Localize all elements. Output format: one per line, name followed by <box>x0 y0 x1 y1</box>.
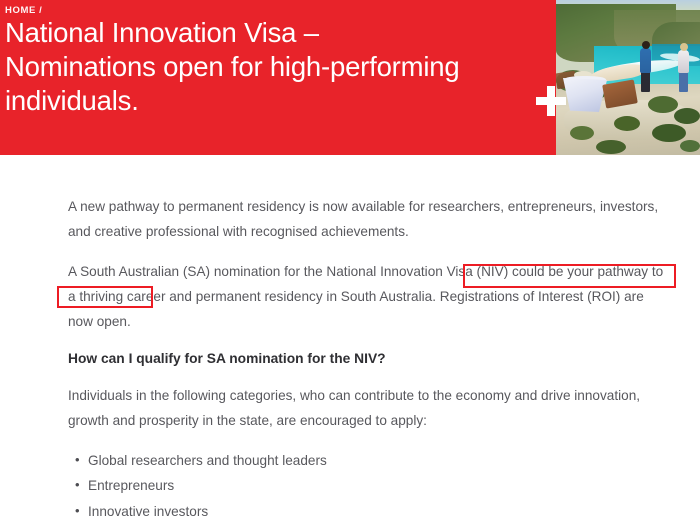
list-item: Global researchers and thought leaders <box>68 448 669 473</box>
photo-person-b <box>680 43 688 51</box>
intro-paragraph: A new pathway to permanent residency is … <box>68 194 669 244</box>
list-item: Innovative investors <box>68 499 669 523</box>
section-heading-qualify: How can I qualify for SA nomination for … <box>68 347 669 371</box>
photo-person-b <box>678 50 689 73</box>
hero-banner: HOME / National Innovation Visa – Nomina… <box>0 0 700 155</box>
hero-photo <box>556 0 700 155</box>
photo-shrub <box>596 140 626 154</box>
photo-person-b <box>679 70 688 92</box>
photo-person-a <box>641 70 650 92</box>
nomination-paragraph: A South Australian (SA) nomination for t… <box>68 259 669 334</box>
main-content: A new pathway to permanent residency is … <box>68 194 669 523</box>
photo-shrub <box>680 140 700 152</box>
photo-person-a <box>642 41 650 49</box>
plus-icon-bar-vertical <box>547 86 555 116</box>
plus-icon <box>536 86 566 116</box>
photo-shrub <box>648 96 678 113</box>
eligible-categories-list: Global researchers and thought leaders E… <box>68 448 669 523</box>
page-root: HOME / National Innovation Visa – Nomina… <box>0 0 700 523</box>
breadcrumb[interactable]: HOME / <box>5 5 42 16</box>
page-title: National Innovation Visa – Nominations o… <box>5 16 525 118</box>
categories-paragraph: Individuals in the following categories,… <box>68 383 669 433</box>
list-item: Entrepreneurs <box>68 473 669 498</box>
photo-shrub <box>614 116 640 131</box>
photo-person-a <box>640 48 651 73</box>
photo-shrub <box>674 108 700 124</box>
photo-shrub <box>652 124 686 142</box>
photo-shrub <box>570 126 594 140</box>
